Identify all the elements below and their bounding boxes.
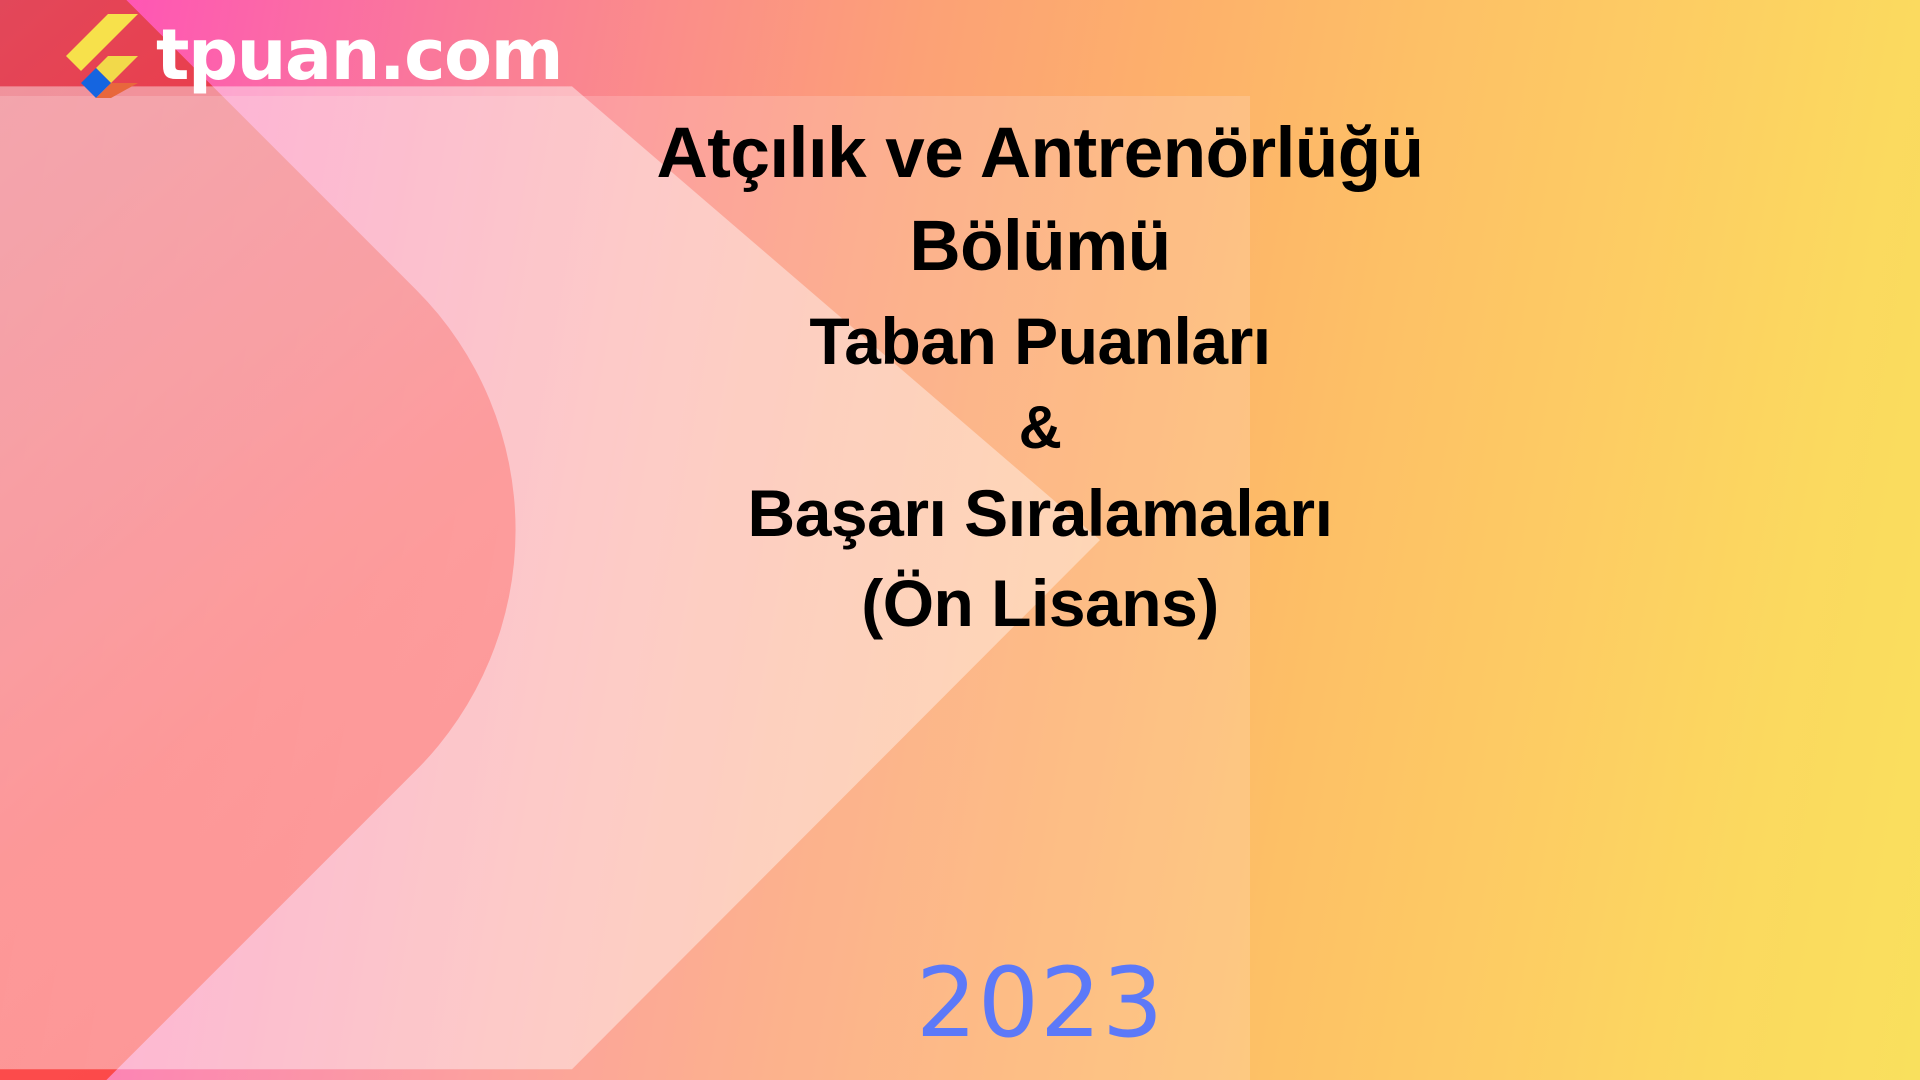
brand-name: tpuan.com xyxy=(156,20,562,90)
brand-logo[interactable]: tpuan.com xyxy=(56,12,562,98)
headline-ampersand: & xyxy=(560,398,1520,458)
banner-canvas: tpuan.com Atçılık ve Antrenörlüğü Bölümü… xyxy=(0,0,1920,1080)
flutter-logo-icon xyxy=(56,12,140,98)
headline-block: Atçılık ve Antrenörlüğü Bölümü Taban Pua… xyxy=(560,118,1520,636)
headline-line-2: Bölümü xyxy=(560,211,1520,282)
headline-line-5: Başarı Sıralamaları xyxy=(560,480,1520,546)
headline-line-6: (Ön Lisans) xyxy=(560,570,1520,636)
headline-line-3: Taban Puanları xyxy=(560,308,1520,374)
headline-line-1: Atçılık ve Antrenörlüğü xyxy=(560,118,1520,189)
year-label: 2023 xyxy=(560,955,1520,1051)
chevron-shape xyxy=(0,0,656,1080)
